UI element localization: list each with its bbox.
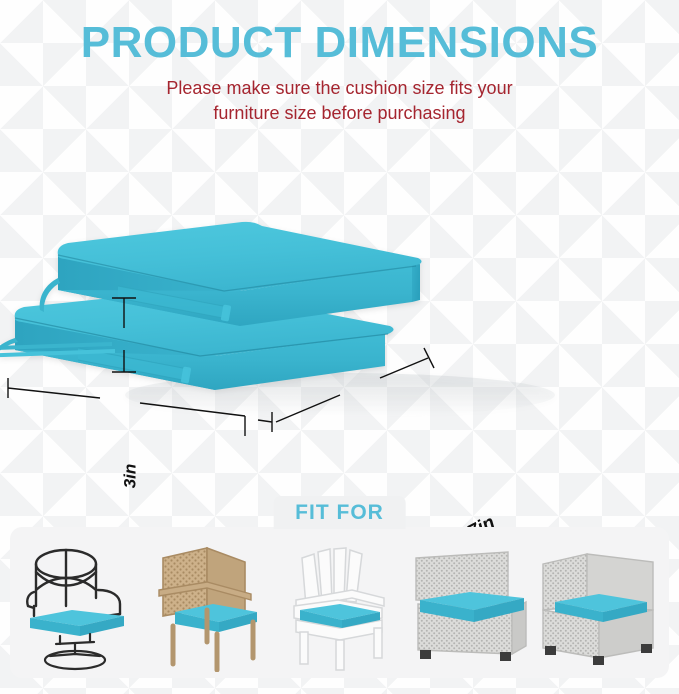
page-title: PRODUCT DIMENSIONS	[0, 18, 679, 68]
product-dimensions-infographic: PRODUCT DIMENSIONS Please make sure the …	[0, 0, 679, 694]
fit-for-badge: FIT FOR	[273, 496, 406, 529]
fit-for-item-list	[10, 527, 669, 678]
corner-sectional-icon	[537, 532, 659, 672]
dimension-label-height: 3in	[120, 464, 140, 489]
adirondack-chair-icon	[278, 532, 400, 672]
cushion-stack-graphic	[0, 150, 679, 480]
subtitle-line-2: furniture size before purchasing	[0, 101, 679, 126]
fit-item-swivel-rocker-chair	[20, 532, 142, 672]
header: PRODUCT DIMENSIONS Please make sure the …	[0, 0, 679, 126]
subtitle-line-1: Please make sure the cushion size fits y…	[0, 76, 679, 101]
fit-item-wicker-dining-chair	[149, 532, 271, 672]
fit-for-panel	[10, 527, 669, 678]
wicker-dining-chair-icon	[149, 532, 271, 672]
cushion-illustration: 16in 17in 3in	[0, 150, 679, 480]
fit-item-armless-sectional	[408, 532, 530, 672]
armless-sectional-icon	[408, 532, 530, 672]
swivel-rocker-chair-icon	[20, 532, 142, 672]
page-subtitle: Please make sure the cushion size fits y…	[0, 76, 679, 126]
fit-item-adirondack-chair	[278, 532, 400, 672]
fit-item-corner-sectional	[537, 532, 659, 672]
